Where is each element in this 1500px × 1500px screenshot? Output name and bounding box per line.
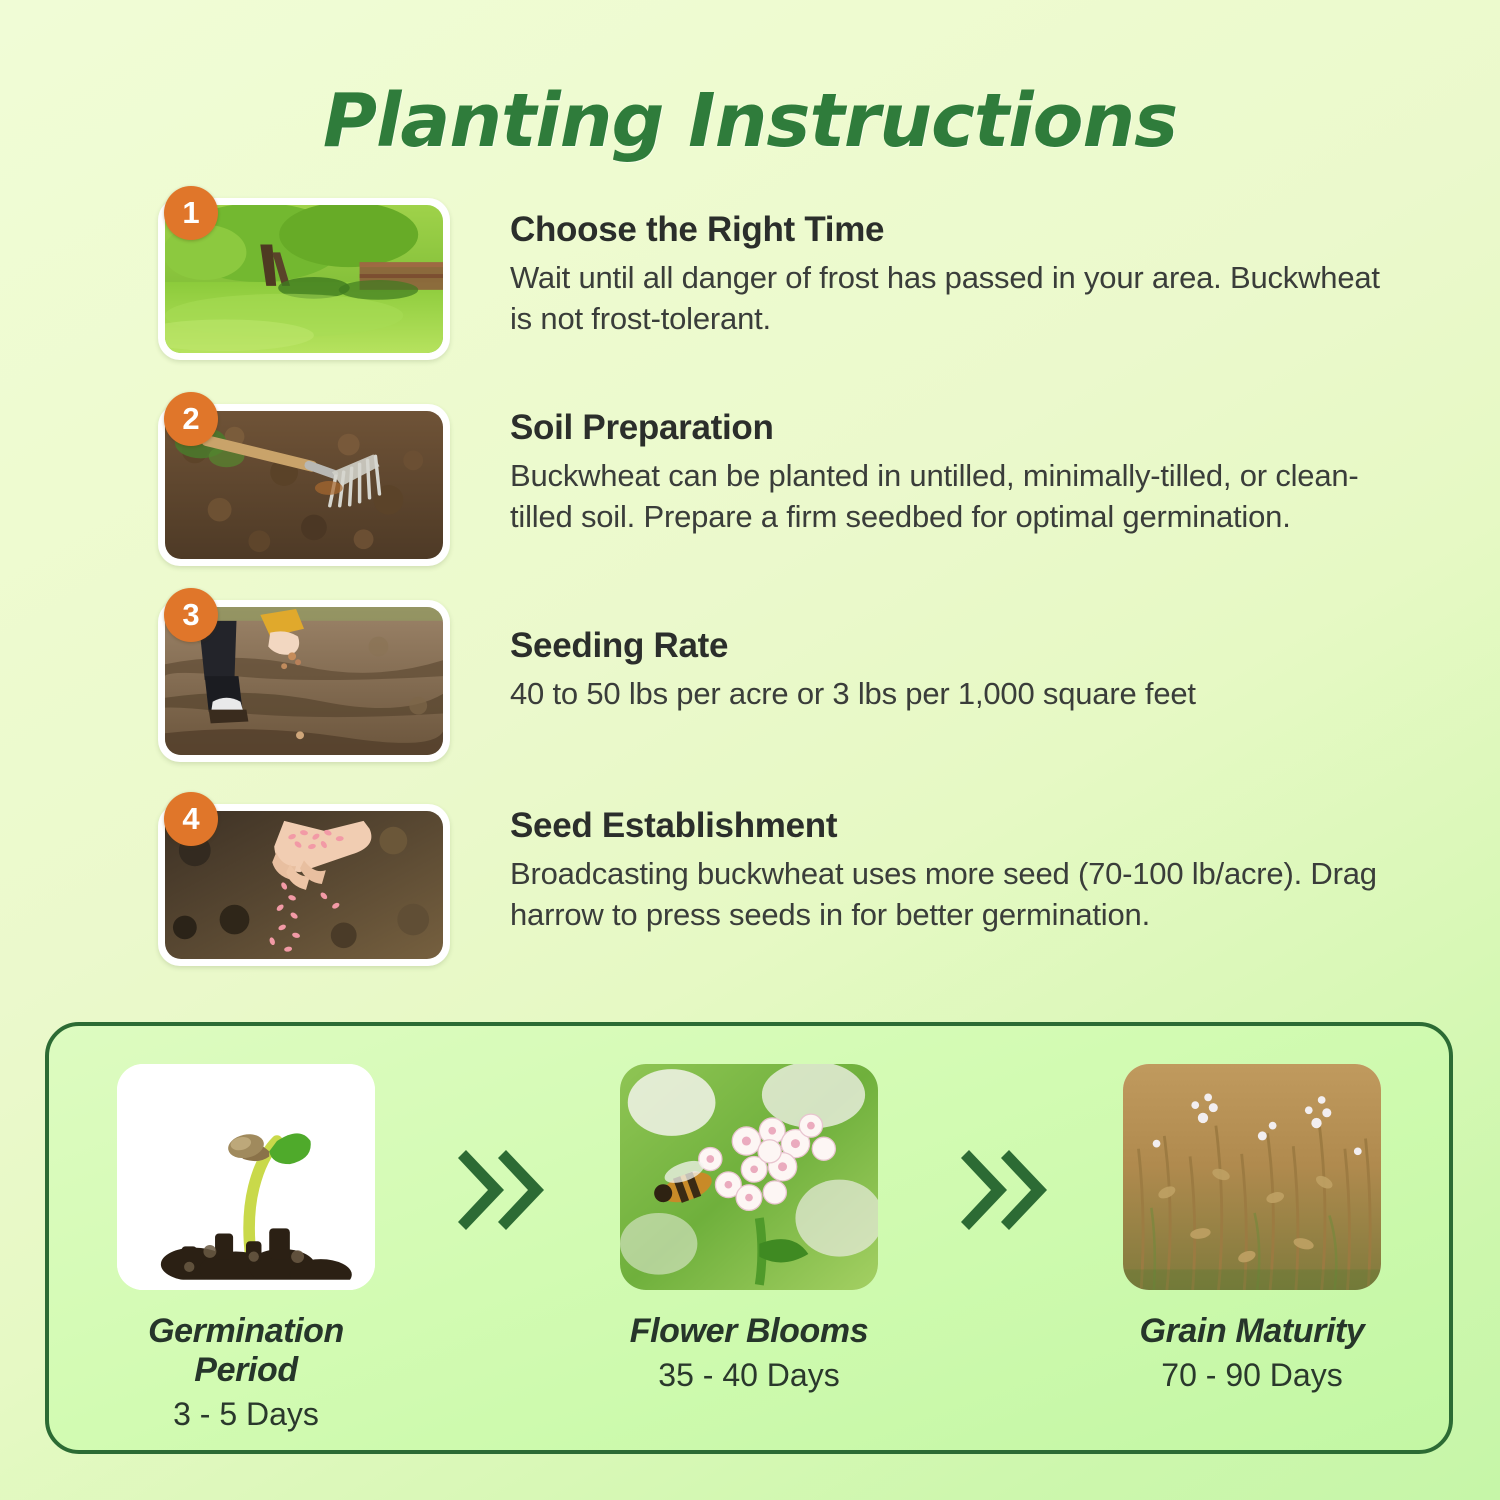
step-text: Soil Preparation Buckwheat can be plante…	[510, 392, 1390, 537]
steps-list: 1	[150, 186, 1420, 996]
growth-timeline-panel: Germination Period 3 - 5 Days	[45, 1022, 1453, 1454]
step-title: Seed Establishment	[510, 806, 1390, 846]
step-thumbnail-wrap: 3	[150, 588, 450, 762]
step-thumbnail-wrap: 1	[150, 186, 450, 360]
step-body: 40 to 50 lbs per acre or 3 lbs per 1,000…	[510, 673, 1196, 714]
step-item: 1	[150, 186, 1420, 360]
step-text: Choose the Right Time Wait until all dan…	[510, 186, 1390, 339]
timeline-days: 70 - 90 Days	[1107, 1357, 1397, 1394]
step-text: Seeding Rate 40 to 50 lbs per acre or 3 …	[510, 588, 1196, 714]
step-body: Wait until all danger of frost has passe…	[510, 257, 1390, 339]
step-thumbnail-wrap: 4	[150, 792, 450, 966]
mature-buckwheat-field-photo	[1123, 1064, 1381, 1290]
step-number-badge: 4	[164, 792, 218, 846]
timeline-label: Grain Maturity	[1107, 1312, 1397, 1351]
step-title: Choose the Right Time	[510, 210, 1390, 250]
timeline-label: Germination Period	[101, 1312, 391, 1390]
step-text: Seed Establishment Broadcasting buckwhea…	[510, 792, 1390, 935]
page-title: Planting Instructions	[0, 78, 1500, 164]
timeline-label: Flower Blooms	[604, 1312, 894, 1351]
step-number-badge: 1	[164, 186, 218, 240]
step-title: Seeding Rate	[510, 626, 1196, 666]
double-chevron-right-icon	[448, 1142, 548, 1242]
timeline-item-grain-maturity: Grain Maturity 70 - 90 Days	[1107, 1064, 1397, 1394]
double-chevron-right-icon	[951, 1142, 1051, 1242]
infographic-root: Planting Instructions 1	[0, 0, 1500, 1500]
step-item: 2	[150, 392, 1420, 566]
step-thumbnail-wrap: 2	[150, 392, 450, 566]
step-item: 3	[150, 588, 1420, 762]
buckwheat-flowers-with-bee-photo	[620, 1064, 878, 1290]
step-body: Buckwheat can be planted in untilled, mi…	[510, 455, 1390, 537]
timeline-days: 3 - 5 Days	[101, 1396, 391, 1433]
step-title: Soil Preparation	[510, 408, 1390, 448]
step-number-badge: 2	[164, 392, 218, 446]
timeline-item-flower-blooms: Flower Blooms 35 - 40 Days	[604, 1064, 894, 1394]
step-number-badge: 3	[164, 588, 218, 642]
sprouting-seedling-photo	[117, 1064, 375, 1290]
step-item: 4	[150, 792, 1420, 966]
step-body: Broadcasting buckwheat uses more seed (7…	[510, 853, 1390, 935]
timeline-days: 35 - 40 Days	[604, 1357, 894, 1394]
timeline-item-germination: Germination Period 3 - 5 Days	[101, 1064, 391, 1433]
